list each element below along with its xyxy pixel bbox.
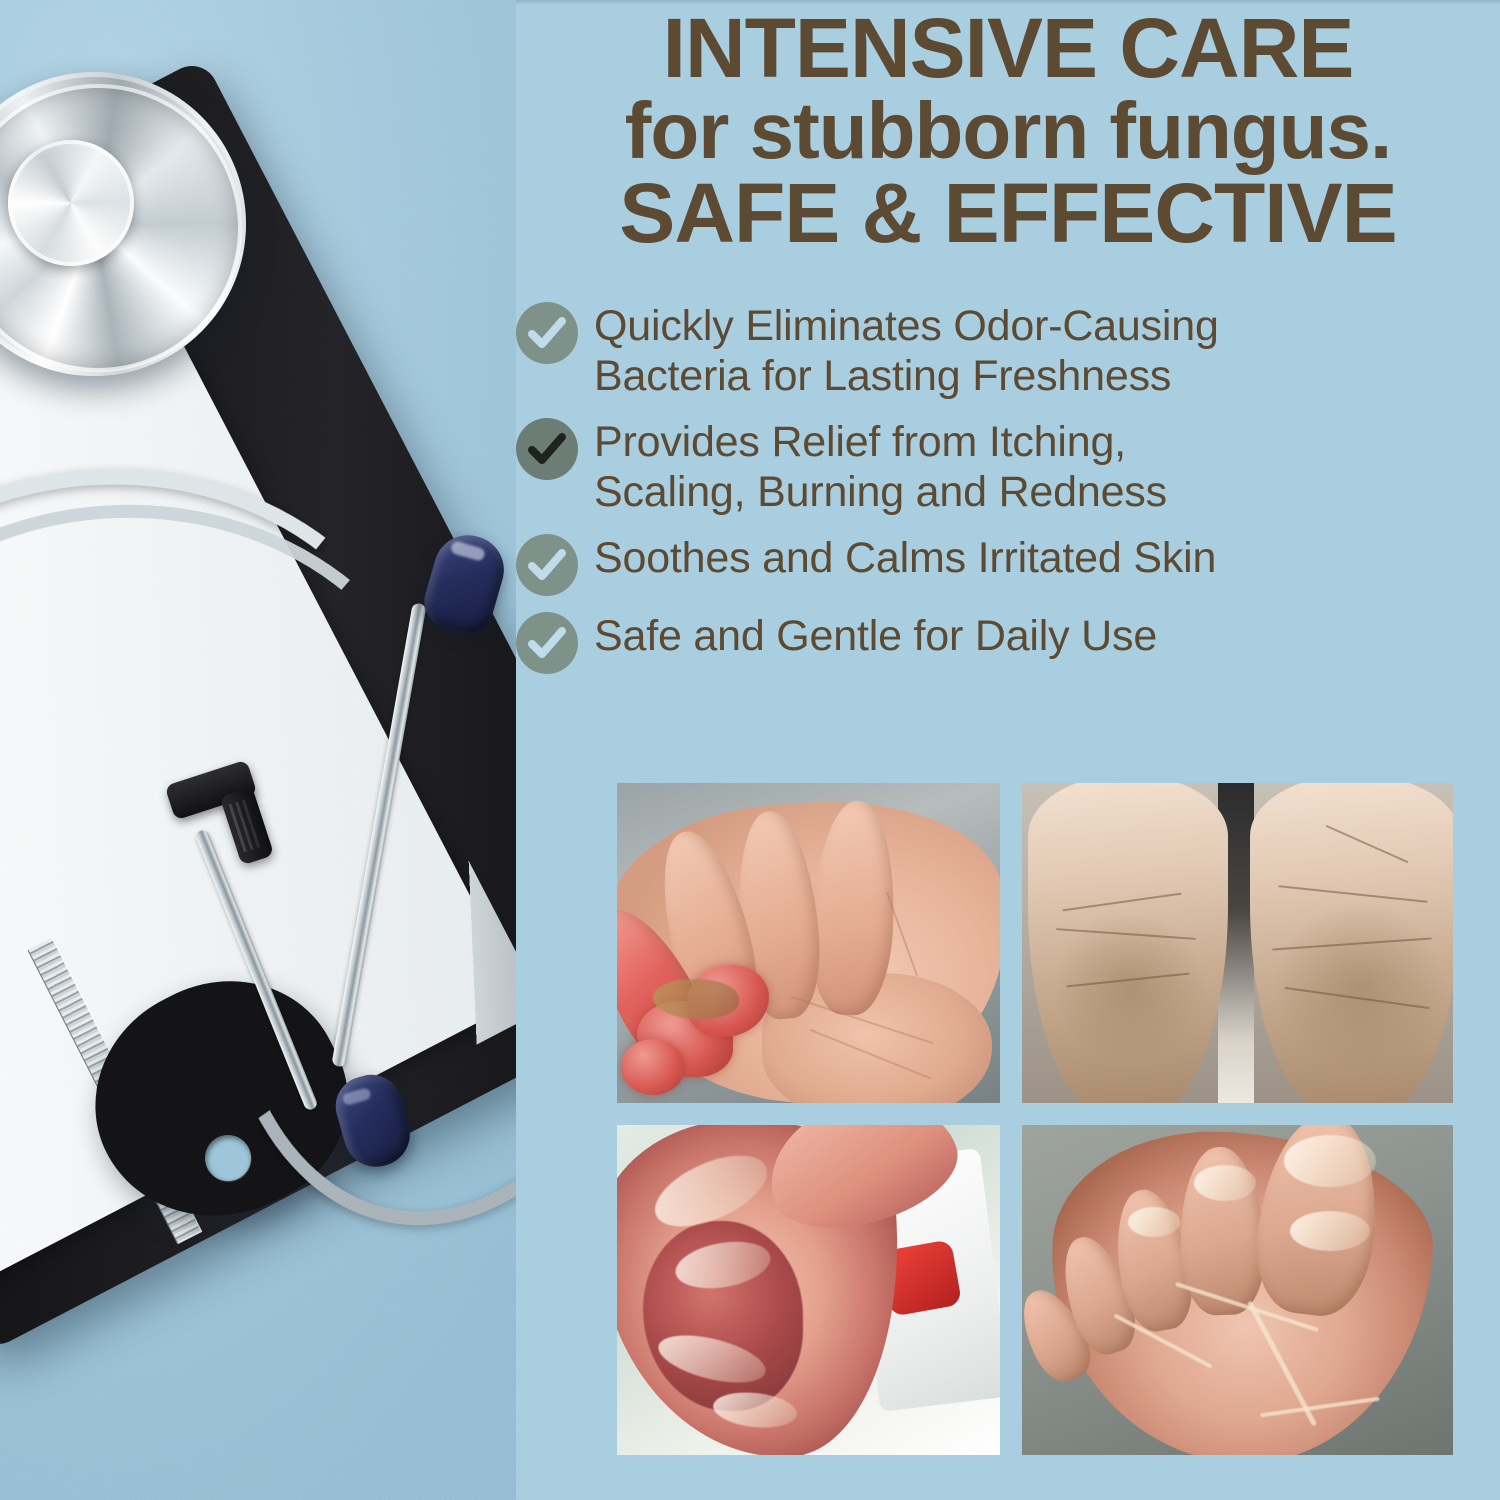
benefit-text-3: Soothes and Calms Irritated Skin — [594, 532, 1216, 584]
foot-photo-dry-cracked-heels — [1022, 783, 1453, 1103]
headline-line-3: SAFE & EFFECTIVE — [516, 173, 1500, 254]
benefit-text-2: Provides Relief from Itching, Scaling, B… — [594, 416, 1167, 518]
check-circle-icon — [516, 612, 578, 674]
benefit-item-1: Quickly Eliminates Odor-Causing Bacteria… — [516, 300, 1500, 402]
skin-flake — [1284, 1135, 1376, 1187]
foot-photo-scaly-toes — [1022, 1125, 1453, 1455]
foot-photo-inflamed-toes — [617, 783, 1000, 1103]
benefits-list: Quickly Eliminates Odor-Causing Bacteria… — [516, 300, 1500, 688]
stethoscope-on-clipboard-photo — [0, 0, 516, 1500]
benefit-text-1-line-1: Quickly Eliminates Odor-Causing — [594, 302, 1219, 350]
product-infographic: INTENSIVE CARE for stubborn fungus. SAFE… — [0, 0, 1500, 1500]
check-circle-icon — [516, 534, 578, 596]
benefit-item-2: Provides Relief from Itching, Scaling, B… — [516, 416, 1500, 518]
check-circle-icon — [516, 302, 578, 364]
headline-block: INTENSIVE CARE for stubborn fungus. SAFE… — [516, 8, 1500, 254]
headline-line-2: for stubborn fungus. — [516, 93, 1500, 170]
headline-line-1: INTENSIVE CARE — [516, 8, 1500, 89]
skin-flake — [1194, 1165, 1256, 1201]
benefit-text-4: Safe and Gentle for Daily Use — [594, 610, 1157, 662]
photo-grain-overlay — [0, 0, 516, 1500]
skin-lesion — [621, 1039, 685, 1095]
condition-photo-grid — [617, 783, 1454, 1455]
benefit-item-3: Soothes and Calms Irritated Skin — [516, 532, 1500, 596]
skin-flake — [1290, 1211, 1370, 1251]
benefit-text-2-line-2: Scaling, Burning and Redness — [594, 468, 1167, 516]
benefit-item-4: Safe and Gentle for Daily Use — [516, 610, 1500, 674]
dry-skin-patch — [1050, 913, 1210, 1063]
benefit-text-2-line-1: Provides Relief from Itching, — [594, 418, 1126, 466]
benefit-text-1-line-2: Bacteria for Lasting Freshness — [594, 352, 1171, 400]
check-circle-icon — [516, 418, 578, 480]
skin-flake — [1128, 1207, 1180, 1237]
foot-photo-peeling-sole — [617, 1125, 1000, 1455]
benefit-text-1: Quickly Eliminates Odor-Causing Bacteria… — [594, 300, 1219, 402]
content-column: INTENSIVE CARE for stubborn fungus. SAFE… — [516, 0, 1500, 1500]
